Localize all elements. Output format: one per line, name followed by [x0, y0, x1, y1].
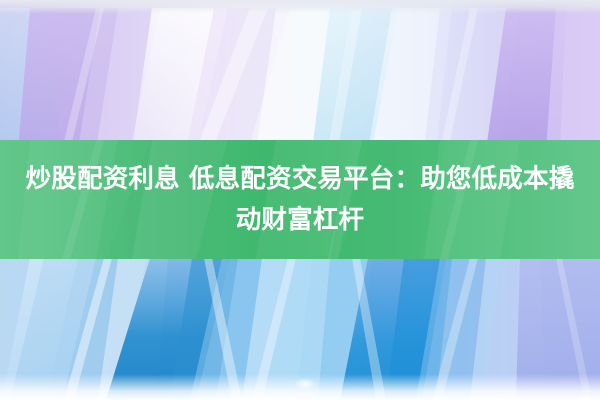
title-band: 炒股配资利息 低息配资交易平台：助您低成本撬动财富杠杆 [0, 140, 600, 259]
bottom-highlight-spark [294, 378, 316, 390]
promo-banner: 炒股配资利息 低息配资交易平台：助您低成本撬动财富杠杆 [0, 0, 600, 400]
top-edge-fade [0, 0, 600, 14]
banner-title: 炒股配资利息 低息配资交易平台：助您低成本撬动财富杠杆 [16, 159, 584, 241]
